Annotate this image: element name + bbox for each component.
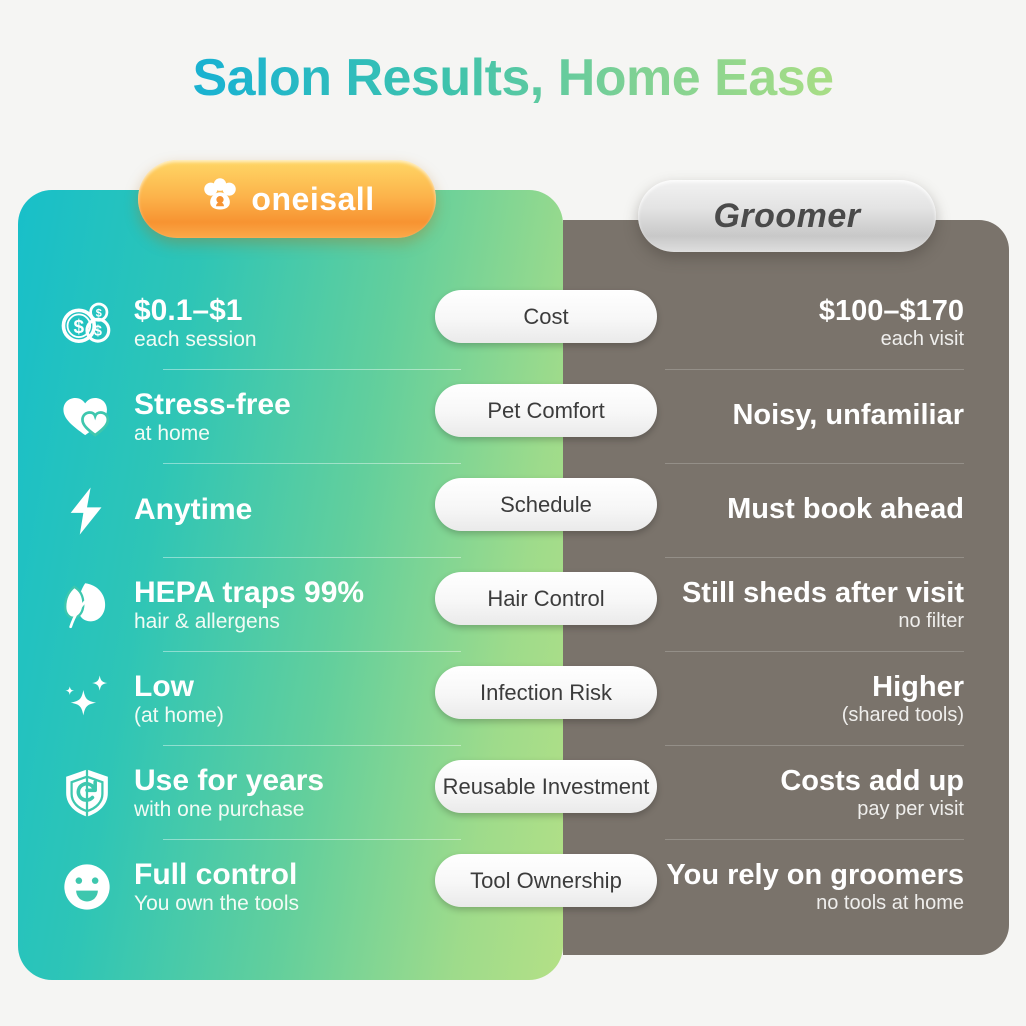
left-value-main: $0.1–$1	[134, 295, 257, 326]
right-value-main: Higher	[872, 672, 964, 702]
table-row: Full control You own the tools Tool Owne…	[0, 840, 1026, 934]
row-right-groomer: $100–$170 each visit	[544, 276, 964, 370]
coins-icon: $ $ $	[56, 292, 118, 354]
right-value-main: Costs add up	[780, 766, 964, 796]
row-left-oneisall: Use for years with one purchase	[56, 746, 456, 840]
row-right-groomer: Still sheds after visit no filter	[544, 558, 964, 652]
left-value-main: HEPA traps 99%	[134, 577, 364, 608]
table-row: HEPA traps 99% hair & allergens Hair Con…	[0, 558, 1026, 652]
row-right-groomer: Must book ahead	[544, 464, 964, 558]
leaves-icon	[56, 574, 118, 636]
right-value-sub: no filter	[898, 611, 964, 632]
right-value-sub: pay per visit	[857, 799, 964, 820]
right-value-main: $100–$170	[819, 296, 964, 326]
right-value-main: Must book ahead	[727, 494, 964, 524]
paw-logo-icon	[199, 176, 241, 223]
page-title: Salon Results, Home Ease	[0, 48, 1026, 108]
right-value-main: You rely on groomers	[666, 860, 964, 890]
row-left-oneisall: Full control You own the tools	[56, 840, 456, 934]
table-row: $ $ $ $0.1–$1 each session Cost $100–$17…	[0, 276, 1026, 370]
brand-name: oneisall	[251, 181, 374, 218]
left-value-sub: with one purchase	[134, 799, 324, 821]
left-value-main: Full control	[134, 859, 299, 890]
lightning-bolt-icon	[56, 480, 118, 542]
sparkles-icon	[56, 668, 118, 730]
svg-text:$: $	[74, 317, 85, 338]
row-left-oneisall: Low (at home)	[56, 652, 456, 746]
row-left-oneisall: HEPA traps 99% hair & allergens	[56, 558, 456, 652]
right-value-sub: (shared tools)	[842, 705, 964, 726]
left-value-sub: You own the tools	[134, 893, 299, 915]
left-value-main: Use for years	[134, 765, 324, 796]
left-value-sub: (at home)	[134, 705, 224, 727]
row-right-groomer: Noisy, unfamiliar	[544, 370, 964, 464]
row-right-groomer: Higher (shared tools)	[544, 652, 964, 746]
right-value-sub: no tools at home	[816, 893, 964, 914]
row-right-groomer: You rely on groomers no tools at home	[544, 840, 964, 934]
competitor-badge-groomer: Groomer	[638, 180, 936, 252]
right-value-main: Noisy, unfamiliar	[732, 400, 964, 430]
left-value-sub: hair & allergens	[134, 611, 364, 633]
left-value-sub: each session	[134, 329, 257, 351]
left-value-main: Anytime	[134, 494, 252, 525]
shield-refresh-icon	[56, 762, 118, 824]
comparison-table: $ $ $ $0.1–$1 each session Cost $100–$17…	[0, 276, 1026, 934]
smiley-face-icon	[56, 856, 118, 918]
row-left-oneisall: Stress-free at home	[56, 370, 456, 464]
row-right-groomer: Costs add up pay per visit	[544, 746, 964, 840]
hearts-icon	[56, 386, 118, 448]
competitor-name: Groomer	[713, 197, 860, 236]
right-value-sub: each visit	[881, 329, 964, 350]
row-left-oneisall: Anytime	[56, 464, 456, 558]
table-row: Low (at home) Infection Risk Higher (sha…	[0, 652, 1026, 746]
right-value-main: Still sheds after visit	[682, 578, 964, 608]
table-row: Use for years with one purchase Reusable…	[0, 746, 1026, 840]
table-row: Anytime Schedule Must book ahead	[0, 464, 1026, 558]
left-value-sub: at home	[134, 423, 291, 445]
row-left-oneisall: $ $ $ $0.1–$1 each session	[56, 276, 456, 370]
brand-badge-oneisall: oneisall	[138, 160, 436, 238]
left-value-main: Low	[134, 671, 224, 702]
left-value-main: Stress-free	[134, 389, 291, 420]
table-row: Stress-free at home Pet Comfort Noisy, u…	[0, 370, 1026, 464]
